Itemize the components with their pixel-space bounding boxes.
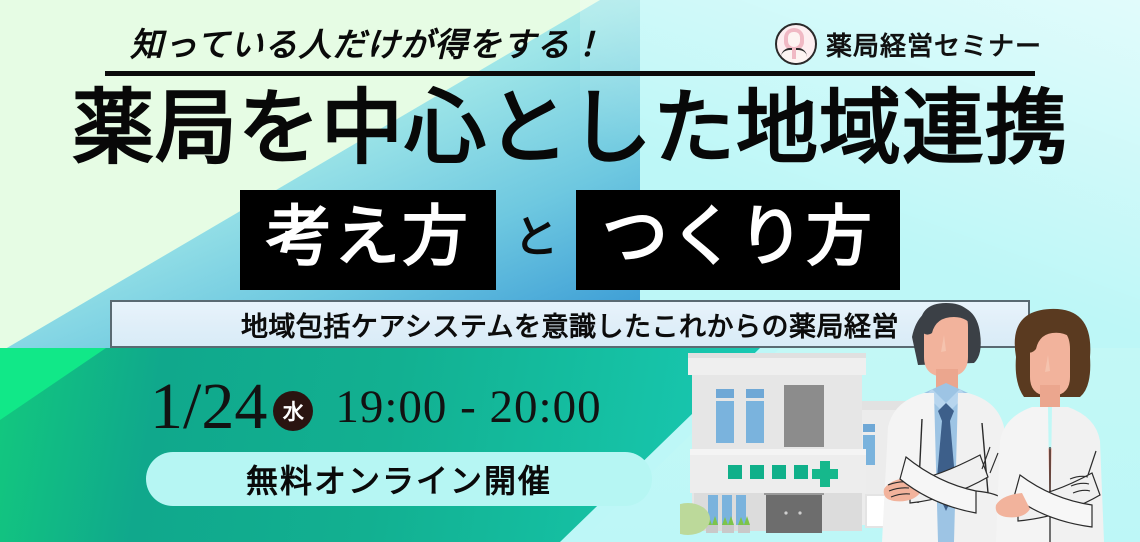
pharmacist-avatar-icon (775, 23, 817, 65)
event-time: 19:00 - 20:00 (335, 384, 601, 431)
schedule-row: 1/24 水 19:00 - 20:00 (150, 374, 602, 440)
brand-lockup: 薬局経営セミナー (775, 23, 1042, 65)
brand-name: 薬局経営セミナー (826, 26, 1042, 63)
highlight-row: 考え方 と つくり方 (0, 190, 1140, 290)
male-pharmacist-icon (882, 303, 1010, 542)
female-pharmacist-icon (996, 309, 1104, 542)
seminar-banner: 知っている人だけが得をする！ 薬局経営セミナー 薬局を中心とした地域連携 考え方… (0, 0, 1140, 542)
free-online-pill[interactable]: 無料オンライン開催 (146, 452, 652, 506)
illustration-group (680, 297, 1140, 542)
free-online-pill-label: 無料オンライン開催 (246, 456, 552, 502)
event-date: 1/24 (150, 374, 267, 440)
page-title: 薬局を中心とした地域連携 (0, 85, 1140, 174)
header-row: 知っている人だけが得をする！ 薬局経営セミナー (0, 18, 1140, 70)
header-divider (105, 71, 1035, 76)
highlight-box-left: 考え方 (240, 190, 496, 290)
day-of-week-badge: 水 (273, 391, 313, 431)
kicker-text: 知っている人だけが得をする！ (130, 18, 604, 66)
highlight-conjunction: と (514, 216, 558, 264)
highlight-box-right: つくり方 (576, 190, 900, 290)
